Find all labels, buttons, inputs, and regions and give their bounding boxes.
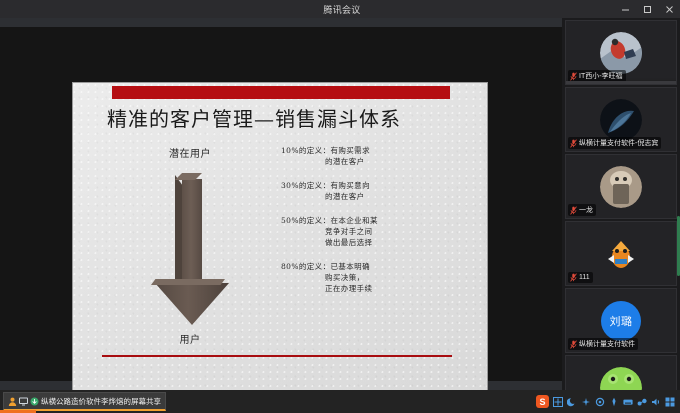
participant-name-badge: 纵横计量支付软件 [568, 338, 638, 350]
shared-screen-stage: 精准的客户管理—销售漏斗体系 潜在用户 用户 [0, 18, 562, 390]
shared-screen-viewport: 精准的客户管理—销售漏斗体系 潜在用户 用户 [0, 27, 562, 381]
window-titlebar: 腾讯会议 [0, 0, 680, 18]
speaking-tooltip: 正在讲话: 纵横公路造价软件李... [565, 81, 677, 85]
annotation-line: 做出最后选择 [281, 237, 466, 248]
keyboard-icon[interactable] [623, 397, 633, 407]
annotation-line: 50%的定义：在本企业和某 [281, 215, 466, 226]
annotation-line: 30%的定义：有购买意向 [281, 180, 466, 191]
taskbar-task-label: 纵横公路造价软件李烨熔的屏幕共享 [41, 396, 161, 407]
window-title: 腾讯会议 [70, 3, 614, 16]
microphone-muted-icon [570, 72, 577, 81]
down-arrow-icon [125, 165, 255, 327]
annotation-line: 正在办理手续 [281, 283, 466, 294]
avatar [604, 237, 638, 271]
moon-icon[interactable] [567, 397, 577, 407]
avatar [600, 99, 642, 141]
participant-name: 纵横计量支付软件 [579, 339, 635, 349]
network-icon[interactable] [637, 397, 647, 407]
taskbar-screenshare-button[interactable]: 纵横公路造价软件李烨熔的屏幕共享 [3, 392, 166, 411]
tencent-meeting-window: 腾讯会议 精准的客户管理—销售漏斗体系 潜在用户 [0, 0, 680, 413]
avatar [600, 32, 642, 74]
annotation-line: 购买决策， [281, 272, 466, 283]
system-tray: S [536, 395, 680, 408]
person-icon [8, 397, 17, 406]
participant-name: 纵横计量支付软件-倪志宾 [579, 138, 658, 148]
microphone-muted-icon [570, 340, 577, 349]
sogou-ime-icon[interactable]: S [536, 395, 549, 408]
download-arrow-icon [30, 397, 39, 406]
annotation-line: 80%的定义：已基本明确 [281, 261, 466, 272]
microphone-muted-icon [570, 139, 577, 148]
presentation-slide: 精准的客户管理—销售漏斗体系 潜在用户 用户 [72, 82, 488, 394]
pin-icon[interactable] [609, 397, 619, 407]
sparkle-icon[interactable] [581, 397, 591, 407]
window-controls [614, 0, 680, 18]
chinese-mode-icon[interactable] [553, 397, 563, 407]
close-icon[interactable] [658, 0, 680, 18]
slide-accent-bar [112, 86, 450, 99]
participant-name: 一龙 [579, 205, 593, 215]
slide-annotations: 10%的定义：有购买需求 的潜在客户 30%的定义：有购买意向 的潜在客户 50… [281, 145, 466, 307]
funnel-bottom-label: 用户 [125, 331, 255, 346]
participant-name: IT西小-李旺福 [579, 71, 623, 81]
annotation-block: 80%的定义：已基本明确 购买决策， 正在办理手续 [281, 261, 466, 294]
participant-name: 111 [579, 274, 590, 281]
settings-icon[interactable] [595, 397, 605, 407]
participant-name-badge: 纵横计量支付软件-倪志宾 [568, 137, 661, 149]
annotation-line: 10%的定义：有购买需求 [281, 145, 466, 156]
avatar: 刘璐 [601, 301, 641, 341]
participant-name-badge: 一龙 [568, 204, 596, 216]
minimize-icon[interactable] [614, 0, 636, 18]
show-desktop-icon[interactable] [665, 397, 675, 407]
microphone-muted-icon [570, 206, 577, 215]
participant-rail[interactable]: IT西小-李旺福 正在讲话: 纵横公路造价软件李... [562, 18, 680, 390]
participant-name-badge: 111 [568, 272, 593, 283]
speaking-tooltip-text: 正在讲话: 纵横公路造价软件李... [565, 83, 671, 85]
funnel-diagram: 潜在用户 用户 [125, 145, 255, 345]
annotation-block: 10%的定义：有购买需求 的潜在客户 [281, 145, 466, 167]
avatar [600, 166, 642, 208]
annotation-line: 的潜在客户 [281, 191, 466, 202]
avatar-initials: 刘璐 [610, 313, 633, 329]
maximize-icon[interactable] [636, 0, 658, 18]
participant-tile[interactable]: 刘璐 纵横计量支付软件 [565, 288, 677, 353]
annotation-line: 的潜在客户 [281, 156, 466, 167]
volume-icon[interactable] [651, 397, 661, 407]
slide-title: 精准的客户管理—销售漏斗体系 [107, 103, 477, 132]
participant-tile[interactable]: 111 [565, 221, 677, 286]
funnel-top-label: 潜在用户 [125, 145, 255, 160]
monitor-icon [19, 397, 28, 406]
slide-baseline-rule [102, 355, 452, 357]
microphone-muted-icon [570, 273, 577, 282]
annotation-line: 竞争对手之间 [281, 226, 466, 237]
participant-tile[interactable]: 一龙 [565, 154, 677, 219]
annotation-block: 30%的定义：有购买意向 的潜在客户 [281, 180, 466, 202]
participant-tile[interactable]: IT西小-李旺福 正在讲话: 纵横公路造价软件李... [565, 20, 677, 85]
windows-taskbar: 纵横公路造价软件李烨熔的屏幕共享 S [0, 390, 680, 413]
annotation-block: 50%的定义：在本企业和某 竞争对手之间 做出最后选择 [281, 215, 466, 248]
participant-tile[interactable]: 纵横计量支付软件-倪志宾 [565, 87, 677, 152]
